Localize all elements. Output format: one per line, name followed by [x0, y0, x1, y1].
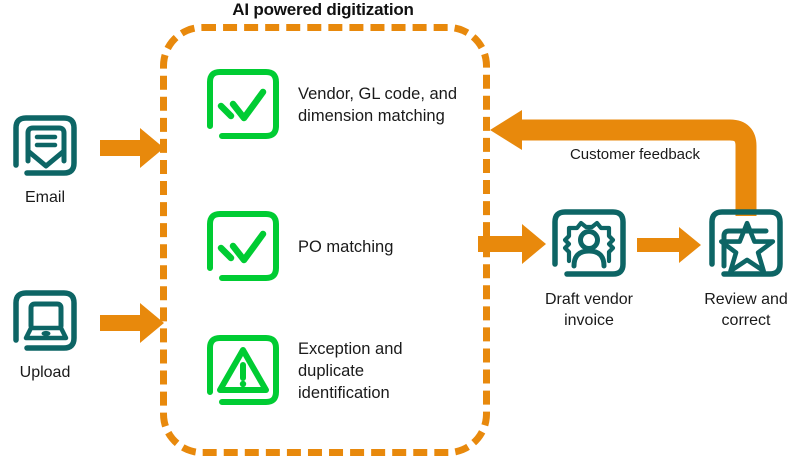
arrow-upload-to-ai	[100, 301, 166, 350]
output-label-draft-vendor-invoice: Draft vendor invoice	[543, 289, 635, 331]
source-node-email[interactable]: Email	[2, 113, 88, 208]
output-label-review-and-correct: Review and correct	[700, 289, 792, 331]
feature-label-po-matching: PO matching	[298, 236, 393, 258]
email-envelope-document-icon	[9, 113, 81, 185]
double-check-icon	[202, 64, 284, 146]
arrow-draft-to-review	[637, 226, 703, 269]
diagram-canvas: AI powered digitization Email	[0, 0, 800, 470]
page-title: AI powered digitization	[188, 0, 458, 20]
source-label-upload: Upload	[2, 362, 88, 383]
feature-row-po-matching[interactable]: PO matching	[202, 206, 393, 288]
gear-person-icon	[549, 206, 629, 286]
arrow-ai-to-draft	[478, 222, 548, 271]
double-check-icon	[202, 206, 284, 288]
star-icon	[706, 206, 786, 286]
feature-row-exception-duplicate[interactable]: Exception and duplicate identification	[202, 330, 458, 412]
feature-label-exception-duplicate: Exception and duplicate identification	[298, 338, 458, 404]
arrow-email-to-ai	[100, 126, 166, 175]
connector-label-customer-feedback: Customer feedback	[520, 146, 750, 163]
feature-row-vendor-gl-dimension[interactable]: Vendor, GL code, and dimension matching	[202, 64, 458, 146]
source-label-email: Email	[2, 187, 88, 208]
source-node-upload[interactable]: Upload	[2, 288, 88, 383]
warning-triangle-icon	[202, 330, 284, 412]
output-node-draft-vendor-invoice[interactable]: Draft vendor invoice	[543, 206, 635, 331]
output-node-review-and-correct[interactable]: Review and correct	[700, 206, 792, 331]
laptop-computer-icon	[9, 288, 81, 360]
feature-label-vendor-gl-dimension: Vendor, GL code, and dimension matching	[298, 83, 458, 127]
